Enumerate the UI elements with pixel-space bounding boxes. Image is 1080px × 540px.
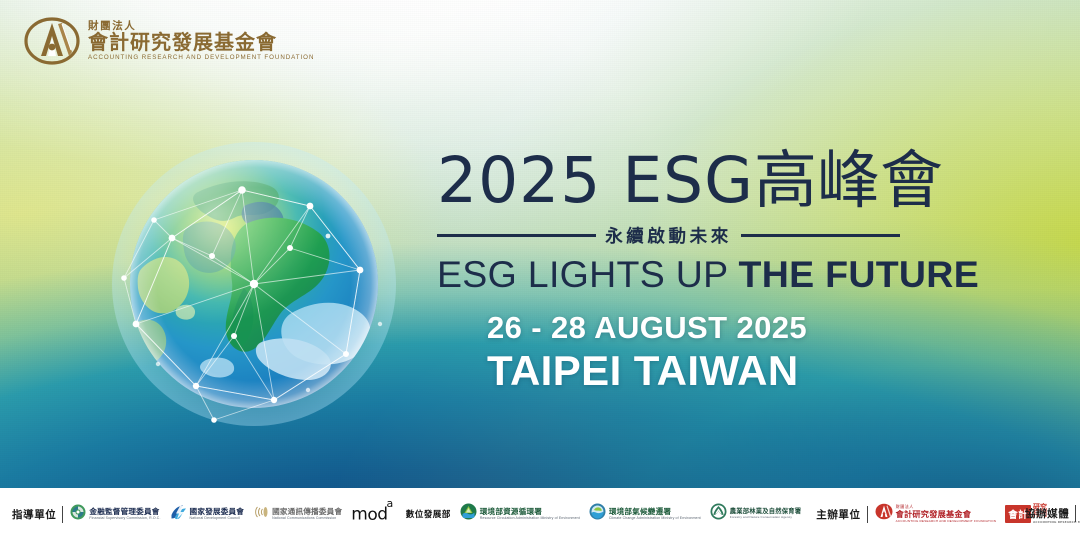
moda-wordmark: moda	[351, 503, 396, 525]
sponsor-divider	[62, 506, 63, 523]
cca-name-en: Climate Change Administration Ministry o…	[609, 517, 701, 521]
sponsor-divider	[1075, 505, 1076, 522]
cca-emblem-icon	[589, 503, 606, 525]
cca-text: 環境部氣候變遷署 Climate Change Administration M…	[609, 508, 701, 521]
ardf-red-emblem-icon	[875, 503, 893, 525]
event-location: TAIPEI TAIWAN	[487, 348, 807, 394]
sponsor-logo-cca[interactable]: 環境部氣候變遷署 Climate Change Administration M…	[589, 503, 701, 525]
ndc-name-cn: 國家發展委員會	[190, 508, 245, 516]
ndc-text: 國家發展委員會 National Development Council	[190, 508, 245, 521]
main-title: 2025 ESG高峰會	[437, 148, 907, 214]
fsc-text: 金融監督管理委員會 Financial Supervisory Commissi…	[89, 508, 160, 521]
ncc-name-en: National Communications Commission	[272, 517, 342, 521]
ardf-red-name-cn: 會計研究發展基金會	[896, 510, 997, 518]
tagline-light: ESG LIGHTS UP	[437, 253, 739, 295]
rca-name-cn: 環境部資源循環署	[480, 508, 580, 516]
ardf-emblem-icon	[24, 14, 80, 68]
sponsor-divider	[867, 506, 868, 523]
tagline-bold: THE FUTURE	[739, 253, 980, 295]
rca-emblem-icon	[460, 503, 477, 525]
sponsor-logo-rca[interactable]: 環境部資源循環署 Resource Circulation Administra…	[460, 503, 580, 525]
sponsor-bar: 指導單位 金融監督管理委員會 Financial Supervisory C	[0, 488, 1080, 540]
sponsor-group-guidance-label: 指導單位	[12, 507, 56, 522]
ncc-name-cn: 國家通訊傳播委員會	[272, 508, 342, 516]
sponsor-group-guidance: 指導單位 金融監督管理委員會 Financial Supervisory C	[12, 503, 810, 525]
sponsor-group-organizer: 主辦單位 財團法人 會計研究發展基金會 ACCOUNTING RESEARCH …	[816, 503, 1019, 525]
sponsor-group-organizer-label: 主辦單位	[816, 507, 860, 522]
fnca-text: 農業部林業及自然保育署 Forestry and Nature Conserva…	[730, 509, 801, 520]
fnca-name-cn: 農業部林業及自然保育署	[730, 509, 801, 515]
sponsor-group-media-label: 協辦媒體	[1025, 506, 1069, 521]
subtitle-rule-left	[437, 234, 596, 237]
ncc-emblem-icon	[253, 504, 269, 525]
fnca-emblem-icon	[710, 503, 727, 525]
title-block: 2025 ESG高峰會 永續啟動未來 ESG LIGHTS UP THE FUT…	[437, 148, 907, 295]
main-title-year: 2025	[437, 144, 601, 217]
tagline: ESG LIGHTS UP THE FUTURE	[437, 255, 907, 294]
subtitle-cjk: 永續啟動未來	[605, 223, 732, 248]
event-date: 26 - 28 AUGUST 2025	[487, 310, 807, 346]
sponsor-logo-fnca[interactable]: 農業部林業及自然保育署 Forestry and Nature Conserva…	[710, 503, 801, 525]
sponsor-logo-fsc[interactable]: 金融監督管理委員會 Financial Supervisory Commissi…	[70, 504, 160, 525]
sponsor-logo-ardf[interactable]: 財團法人 會計研究發展基金會 ACCOUNTING RESEARCH AND D…	[875, 503, 997, 525]
fsc-emblem-icon	[70, 504, 86, 525]
sponsor-logo-ndc[interactable]: 國家發展委員會 National Development Council	[170, 504, 245, 525]
fnca-name-en: Forestry and Nature Conservation Agency	[730, 516, 801, 519]
fsc-name-cn: 金融監督管理委員會	[89, 508, 160, 516]
sponsor-logo-moda[interactable]: moda 數位發展部	[351, 503, 451, 525]
ardf-red-name-en: ACCOUNTING RESEARCH AND DEVELOPMENT FOUN…	[896, 520, 997, 523]
ndc-name-en: National Development Council	[190, 517, 245, 521]
ncc-text: 國家通訊傳播委員會 National Communications Commis…	[272, 508, 342, 521]
moda-name-cn: 數位發展部	[406, 508, 451, 520]
esg-summit-banner: 財團法人 會計研究發展基金會 ACCOUNTING RESEARCH AND D…	[0, 0, 1080, 540]
main-title-esg: ESG	[622, 144, 754, 217]
fsc-name-en: Financial Supervisory Commission, R.O.C.	[89, 517, 160, 521]
subtitle-rule-right	[741, 234, 900, 237]
network-globe-icon	[94, 128, 414, 448]
cca-name-cn: 環境部氣候變遷署	[609, 508, 701, 516]
rca-name-en: Resource Circulation Administration Mini…	[480, 517, 580, 521]
main-title-cjk: 高峰會	[754, 144, 943, 217]
ardf-red-text: 財團法人 會計研究發展基金會 ACCOUNTING RESEARCH AND D…	[896, 505, 997, 523]
organization-logo-text: 財團法人 會計研究發展基金會 ACCOUNTING RESEARCH AND D…	[88, 21, 314, 62]
subtitle-row: 永續啟動未來	[437, 223, 900, 248]
event-details: 26 - 28 AUGUST 2025 TAIPEI TAIWAN	[487, 310, 807, 394]
ndc-emblem-icon	[170, 504, 187, 525]
organization-logo: 財團法人 會計研究發展基金會 ACCOUNTING RESEARCH AND D…	[24, 14, 314, 68]
org-logo-line3: ACCOUNTING RESEARCH AND DEVELOPMENT FOUN…	[88, 55, 314, 61]
sponsor-group-media: 協辦媒體 Home+ 中嘉寬頻 Digit Spark 數位時代行銷 ESG T…	[1025, 505, 1080, 523]
org-logo-line2: 會計研究發展基金會	[88, 32, 314, 52]
sponsor-logo-ncc[interactable]: 國家通訊傳播委員會 National Communications Commis…	[253, 504, 342, 525]
rca-text: 環境部資源循環署 Resource Circulation Administra…	[480, 508, 580, 521]
